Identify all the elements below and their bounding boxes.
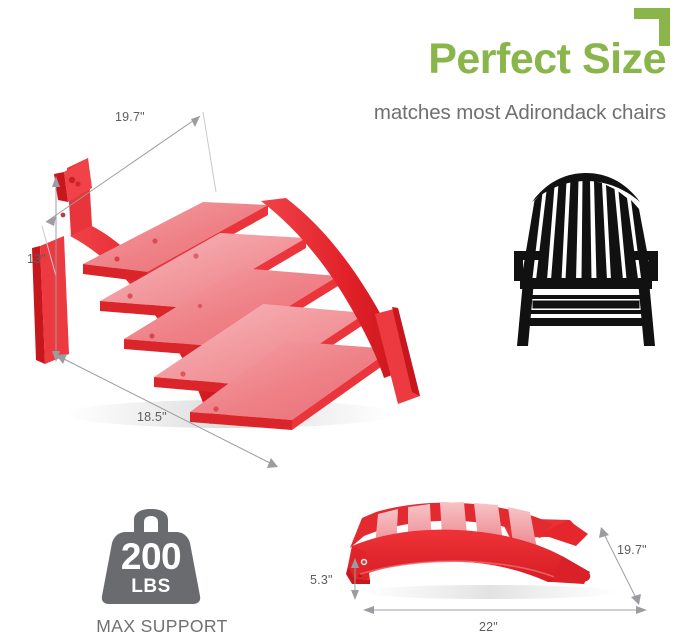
adirondack-chair-icon — [506, 168, 666, 348]
folded-ottoman-illustration — [340, 494, 640, 609]
dimension-label-folded-thickness: 5.3" — [310, 573, 333, 587]
dimension-label-folded-depth: 19.7" — [617, 543, 647, 557]
max-support-badge: 200 LBS MAX SUPPORT — [75, 508, 250, 638]
max-support-caption: MAX SUPPORT — [67, 616, 257, 637]
dimension-label-folded-length: 22" — [479, 620, 498, 634]
dimension-label-width-top: 19.7" — [115, 110, 145, 124]
weight-kettlebell-icon — [96, 508, 206, 606]
page-title: Perfect Size — [330, 37, 666, 82]
dimension-label-depth-bottom: 18.5" — [137, 410, 167, 424]
product-infographic-page: Perfect Size matches most Adirondack cha… — [0, 0, 679, 641]
dimension-label-height-side: 13" — [27, 252, 46, 266]
